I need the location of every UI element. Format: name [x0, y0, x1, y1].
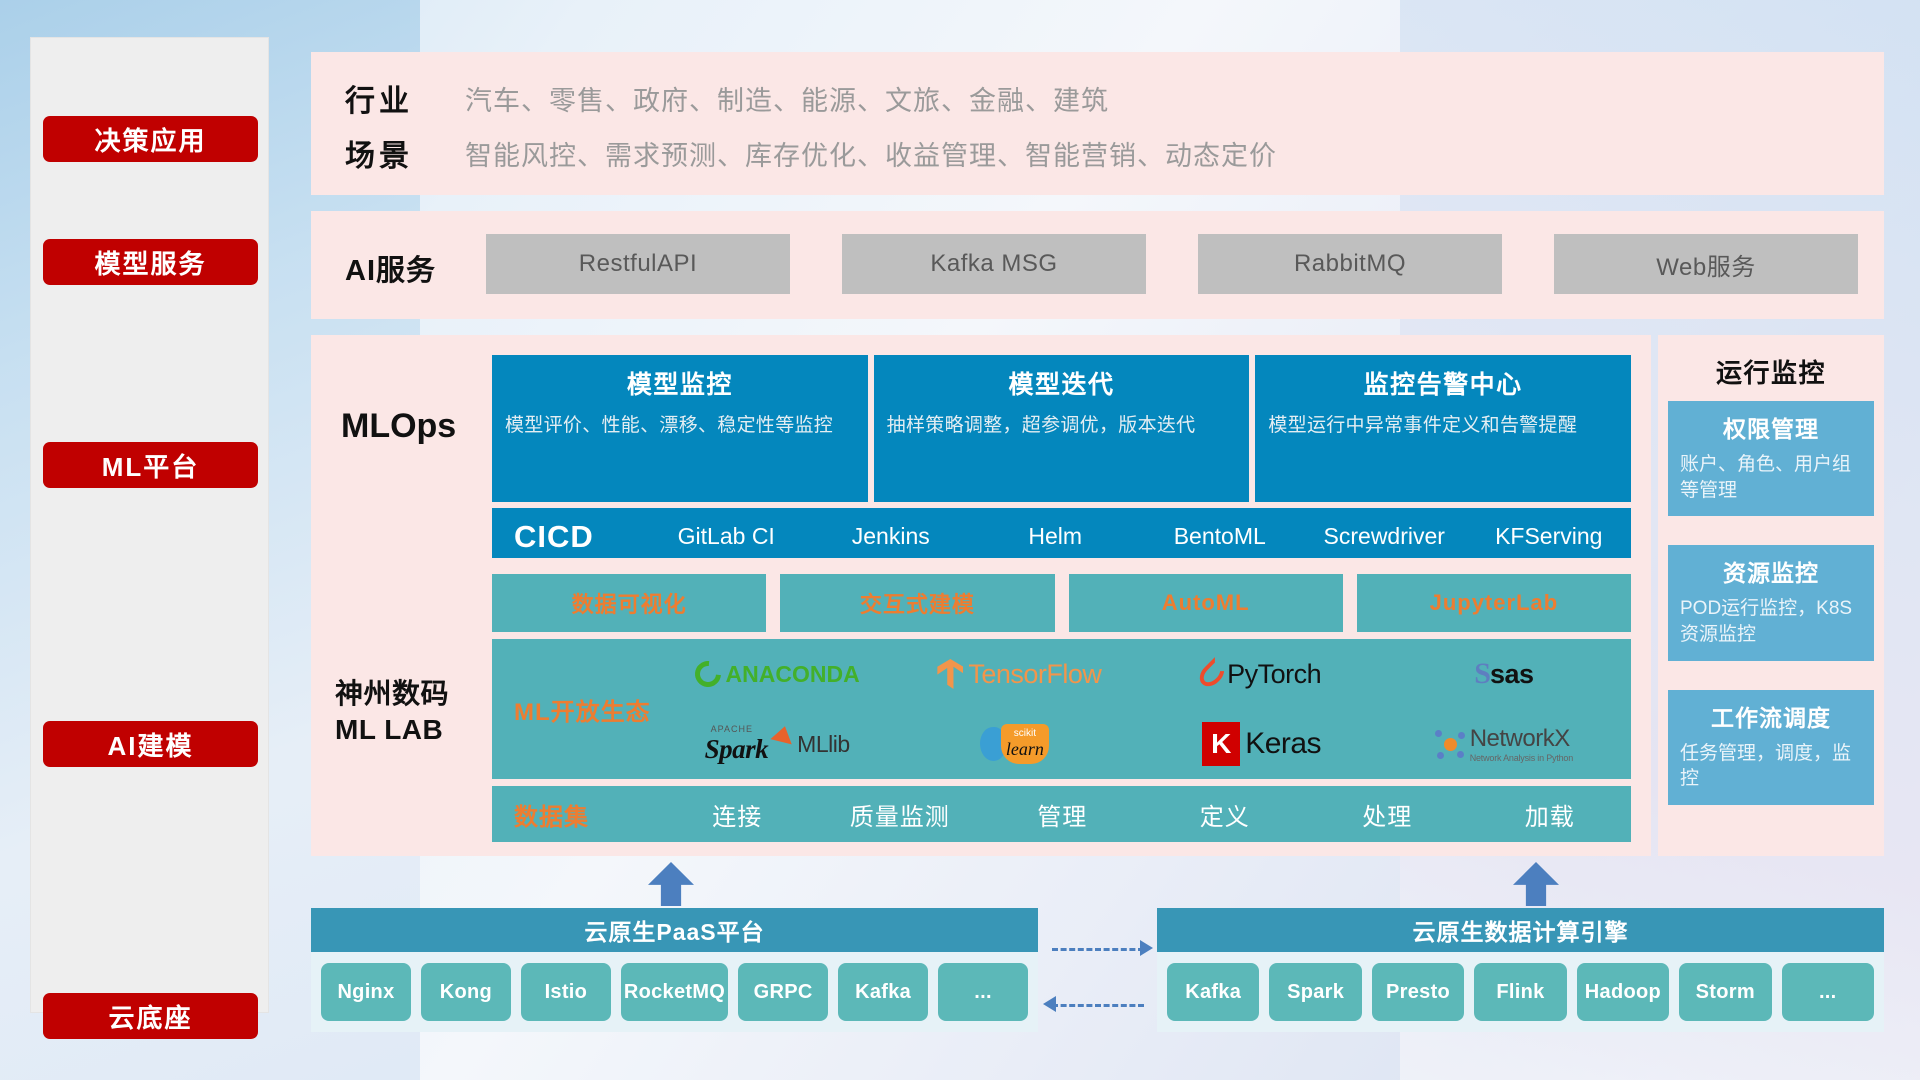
- dataset-row: 数据集 连接 质量监测 管理 定义 处理 加载: [492, 786, 1631, 842]
- ml-open-ecosystem-row: ML开放生态 ANACONDA TensorFlow PyTorch S sas: [492, 639, 1631, 779]
- card-title: 权限管理: [1680, 410, 1862, 444]
- ml-lab-label-line1: 神州数码: [335, 676, 487, 712]
- cicd-item-bentoml[interactable]: BentoML: [1138, 523, 1303, 550]
- paas-chip-grpc[interactable]: GRPC: [738, 963, 828, 1021]
- service-chip-kafka-msg[interactable]: Kafka MSG: [842, 234, 1146, 294]
- mlops-card-list: 模型监控 模型评价、性能、漂移、稳定性等监控 模型迭代 抽样策略调整，超参调优，…: [492, 355, 1631, 502]
- ml-lab-band: 神州数码 ML LAB 数据可视化 交互式建模 AutoML JupyterLa…: [311, 558, 1651, 856]
- mlops-card-model-monitoring[interactable]: 模型监控 模型评价、性能、漂移、稳定性等监控: [492, 355, 868, 502]
- scenario-values: 智能风控、需求预测、库存优化、收益管理、智能营销、动态定价: [465, 134, 1277, 173]
- spark-star-icon: [771, 723, 796, 744]
- spark-mark: APACHE Spark: [705, 724, 791, 765]
- cicd-item-gitlab-ci[interactable]: GitLab CI: [644, 523, 809, 550]
- lab-tool-interactive-modeling[interactable]: 交互式建模: [780, 574, 1054, 632]
- ai-service-label: AI服务: [345, 247, 475, 289]
- networkx-text-block: NetworkX Network Analysis in Python: [1470, 725, 1573, 763]
- paas-chip-kong[interactable]: Kong: [421, 963, 511, 1021]
- lab-tool-automl[interactable]: AutoML: [1069, 574, 1343, 632]
- cicd-item-jenkins[interactable]: Jenkins: [809, 523, 974, 550]
- dataset-item-define[interactable]: 定义: [1144, 797, 1307, 832]
- dataset-item-quality-monitor[interactable]: 质量监测: [819, 797, 982, 832]
- card-title: 工作流调度: [1680, 699, 1862, 733]
- lab-tool-data-visualization[interactable]: 数据可视化: [492, 574, 766, 632]
- tensorflow-arrow-icon: [937, 659, 963, 689]
- data-engine-title: 云原生数据计算引擎: [1157, 908, 1884, 952]
- tensorflow-logo[interactable]: TensorFlow: [937, 659, 1101, 690]
- spark-apache-label: APACHE: [711, 724, 753, 734]
- industry-values: 汽车、零售、政府、制造、能源、文旅、金融、建筑: [465, 79, 1109, 118]
- keras-logo[interactable]: K Keras: [1202, 722, 1321, 766]
- mllib-label: MLlib: [797, 731, 849, 758]
- cicd-item-kfserving[interactable]: KFServing: [1467, 523, 1632, 550]
- dataset-item-process[interactable]: 处理: [1306, 797, 1469, 832]
- arrow-head-right-icon: [1140, 940, 1153, 956]
- paas-chip-kafka[interactable]: Kafka: [838, 963, 928, 1021]
- anaconda-label: ANACONDA: [726, 661, 860, 688]
- card-desc: POD运行监控，K8S资源监控: [1680, 596, 1862, 647]
- paas-chip-list: Nginx Kong Istio RocketMQ GRPC Kafka ...: [311, 952, 1038, 1032]
- networkx-sublabel: Network Analysis in Python: [1470, 753, 1573, 763]
- paas-title: 云原生PaaS平台: [311, 908, 1038, 952]
- card-desc: 模型运行中异常事件定义和告警提醒: [1268, 413, 1618, 440]
- data-chip-presto[interactable]: Presto: [1372, 963, 1464, 1021]
- industry-row: 行业 汽车、零售、政府、制造、能源、文旅、金融、建筑: [345, 76, 1109, 120]
- cicd-item-list: GitLab CI Jenkins Helm BentoML Screwdriv…: [644, 508, 1631, 550]
- ai-service-chip-list: RestfulAPI Kafka MSG RabbitMQ Web服务: [486, 234, 1858, 294]
- card-title: 模型迭代: [887, 365, 1237, 401]
- ml-lab-tool-list: 数据可视化 交互式建模 AutoML JupyterLab: [492, 574, 1631, 632]
- cloud-native-data-engine-block: 云原生数据计算引擎 Kafka Spark Presto Flink Hadoo…: [1157, 908, 1884, 1032]
- sas-swirl-icon: S: [1474, 657, 1491, 691]
- card-desc: 账户、角色、用户组等管理: [1680, 452, 1862, 503]
- data-chip-more[interactable]: ...: [1782, 963, 1874, 1021]
- rail-tag-ai-modeling[interactable]: AI建模: [43, 721, 258, 767]
- data-chip-flink[interactable]: Flink: [1474, 963, 1566, 1021]
- paas-chip-more[interactable]: ...: [938, 963, 1028, 1021]
- card-title: 资源监控: [1680, 554, 1862, 588]
- scenario-row: 场景 智能风控、需求预测、库存优化、收益管理、智能营销、动态定价: [345, 131, 1277, 175]
- paas-chip-istio[interactable]: Istio: [521, 963, 611, 1021]
- dataset-label: 数据集: [492, 797, 656, 832]
- sas-logo[interactable]: S sas: [1474, 657, 1533, 691]
- cloud-native-paas-block: 云原生PaaS平台 Nginx Kong Istio RocketMQ GRPC…: [311, 908, 1038, 1032]
- lab-tool-jupyterlab[interactable]: JupyterLab: [1357, 574, 1631, 632]
- mlops-band: MLOps 模型监控 模型评价、性能、漂移、稳定性等监控 模型迭代 抽样策略调整…: [311, 335, 1651, 575]
- tensorflow-label: TensorFlow: [968, 659, 1101, 690]
- ml-lab-label: 神州数码 ML LAB: [335, 676, 487, 749]
- card-desc: 抽样策略调整，超参调优，版本迭代: [887, 413, 1237, 440]
- ml-open-ecosystem-label: ML开放生态: [492, 692, 656, 727]
- keras-k-icon: K: [1202, 722, 1240, 766]
- service-chip-restfulapi[interactable]: RestfulAPI: [486, 234, 790, 294]
- decision-apps-band: 行业 汽车、零售、政府、制造、能源、文旅、金融、建筑 场景 智能风控、需求预测、…: [311, 52, 1884, 195]
- scikit-learn-badge: scikit learn: [1001, 724, 1049, 764]
- pytorch-label: PyTorch: [1227, 659, 1321, 690]
- mlops-label: MLOps: [341, 407, 481, 446]
- run-monitoring-title: 运行监控: [1658, 353, 1884, 390]
- cicd-item-helm[interactable]: Helm: [973, 523, 1138, 550]
- rail-tag-decision-apps[interactable]: 决策应用: [43, 116, 258, 162]
- mlops-card-alert-center[interactable]: 监控告警中心 模型运行中异常事件定义和告警提醒: [1255, 355, 1631, 502]
- industry-label: 行业: [345, 76, 465, 120]
- monitor-card-workflow-scheduling[interactable]: 工作流调度 任务管理，调度，监控: [1668, 690, 1874, 805]
- monitor-card-resource-monitoring[interactable]: 资源监控 POD运行监控，K8S资源监控: [1668, 545, 1874, 660]
- dataset-item-load[interactable]: 加载: [1469, 797, 1632, 832]
- data-chip-storm[interactable]: Storm: [1679, 963, 1771, 1021]
- cicd-label: CICD: [492, 508, 644, 555]
- paas-chip-nginx[interactable]: Nginx: [321, 963, 411, 1021]
- service-chip-rabbitmq[interactable]: RabbitMQ: [1198, 234, 1502, 294]
- run-monitoring-card-list: 权限管理 账户、角色、用户组等管理 资源监控 POD运行监控，K8S资源监控 工…: [1668, 401, 1874, 834]
- arrow-up-icon-paas: [648, 862, 694, 906]
- paas-chip-rocketmq[interactable]: RocketMQ: [621, 963, 728, 1021]
- card-title: 模型监控: [505, 365, 855, 401]
- spark-label: Spark: [705, 734, 769, 765]
- dataset-item-list: 连接 质量监测 管理 定义 处理 加载: [656, 797, 1631, 832]
- card-desc: 任务管理，调度，监控: [1680, 741, 1862, 792]
- pytorch-flame-icon: [1195, 657, 1229, 691]
- framework-logo-grid: ANACONDA TensorFlow PyTorch S sas APACH: [656, 639, 1631, 779]
- sas-label: sas: [1490, 659, 1534, 690]
- layer-rail: 决策应用 模型服务 ML平台 AI建模 云底座: [30, 37, 269, 1013]
- scikit-label: scikit: [1014, 729, 1036, 739]
- ml-lab-label-line2: ML LAB: [335, 712, 487, 748]
- arrow-head-left-icon: [1043, 996, 1056, 1012]
- run-monitoring-band: 运行监控 权限管理 账户、角色、用户组等管理 资源监控 POD运行监控，K8S资…: [1658, 335, 1884, 856]
- networkx-label: NetworkX: [1470, 725, 1573, 753]
- monitor-card-permission-management[interactable]: 权限管理 账户、角色、用户组等管理: [1668, 401, 1874, 516]
- networkx-logo[interactable]: NetworkX Network Analysis in Python: [1435, 725, 1573, 763]
- ai-service-band: AI服务 RestfulAPI Kafka MSG RabbitMQ Web服务: [311, 211, 1884, 319]
- dataset-item-connect[interactable]: 连接: [656, 797, 819, 832]
- scikit-learn-logo[interactable]: scikit learn: [980, 724, 1059, 764]
- rail-tag-model-service[interactable]: 模型服务: [43, 239, 258, 285]
- networkx-graph-icon: [1435, 729, 1465, 759]
- connector-dashed-left: [1052, 1004, 1144, 1007]
- dataset-item-manage[interactable]: 管理: [981, 797, 1144, 832]
- mlops-card-model-iteration[interactable]: 模型迭代 抽样策略调整，超参调优，版本迭代: [874, 355, 1250, 502]
- anaconda-ring-icon: [689, 656, 726, 693]
- data-chip-kafka[interactable]: Kafka: [1167, 963, 1259, 1021]
- rail-tag-cloud-base[interactable]: 云底座: [43, 993, 258, 1039]
- card-title: 监控告警中心: [1268, 365, 1618, 401]
- cicd-item-screwdriver[interactable]: Screwdriver: [1302, 523, 1467, 550]
- spark-mllib-logo[interactable]: APACHE Spark MLlib: [705, 724, 850, 765]
- service-chip-web-service[interactable]: Web服务: [1554, 234, 1858, 294]
- pytorch-logo[interactable]: PyTorch: [1202, 659, 1321, 690]
- connector-dashed-right: [1052, 948, 1144, 951]
- data-chip-spark[interactable]: Spark: [1269, 963, 1361, 1021]
- learn-label: learn: [1006, 739, 1044, 760]
- scenario-label: 场景: [345, 131, 465, 175]
- data-engine-chip-list: Kafka Spark Presto Flink Hadoop Storm ..…: [1157, 952, 1884, 1032]
- arrow-up-icon-data-engine: [1513, 862, 1559, 906]
- keras-label: Keras: [1245, 727, 1321, 761]
- data-chip-hadoop[interactable]: Hadoop: [1577, 963, 1669, 1021]
- rail-tag-ml-platform[interactable]: ML平台: [43, 442, 258, 488]
- anaconda-logo[interactable]: ANACONDA: [695, 661, 860, 688]
- architecture-diagram: 决策应用 模型服务 ML平台 AI建模 云底座 行业 汽车、零售、政府、制造、能…: [0, 0, 1920, 1080]
- card-desc: 模型评价、性能、漂移、稳定性等监控: [505, 413, 855, 440]
